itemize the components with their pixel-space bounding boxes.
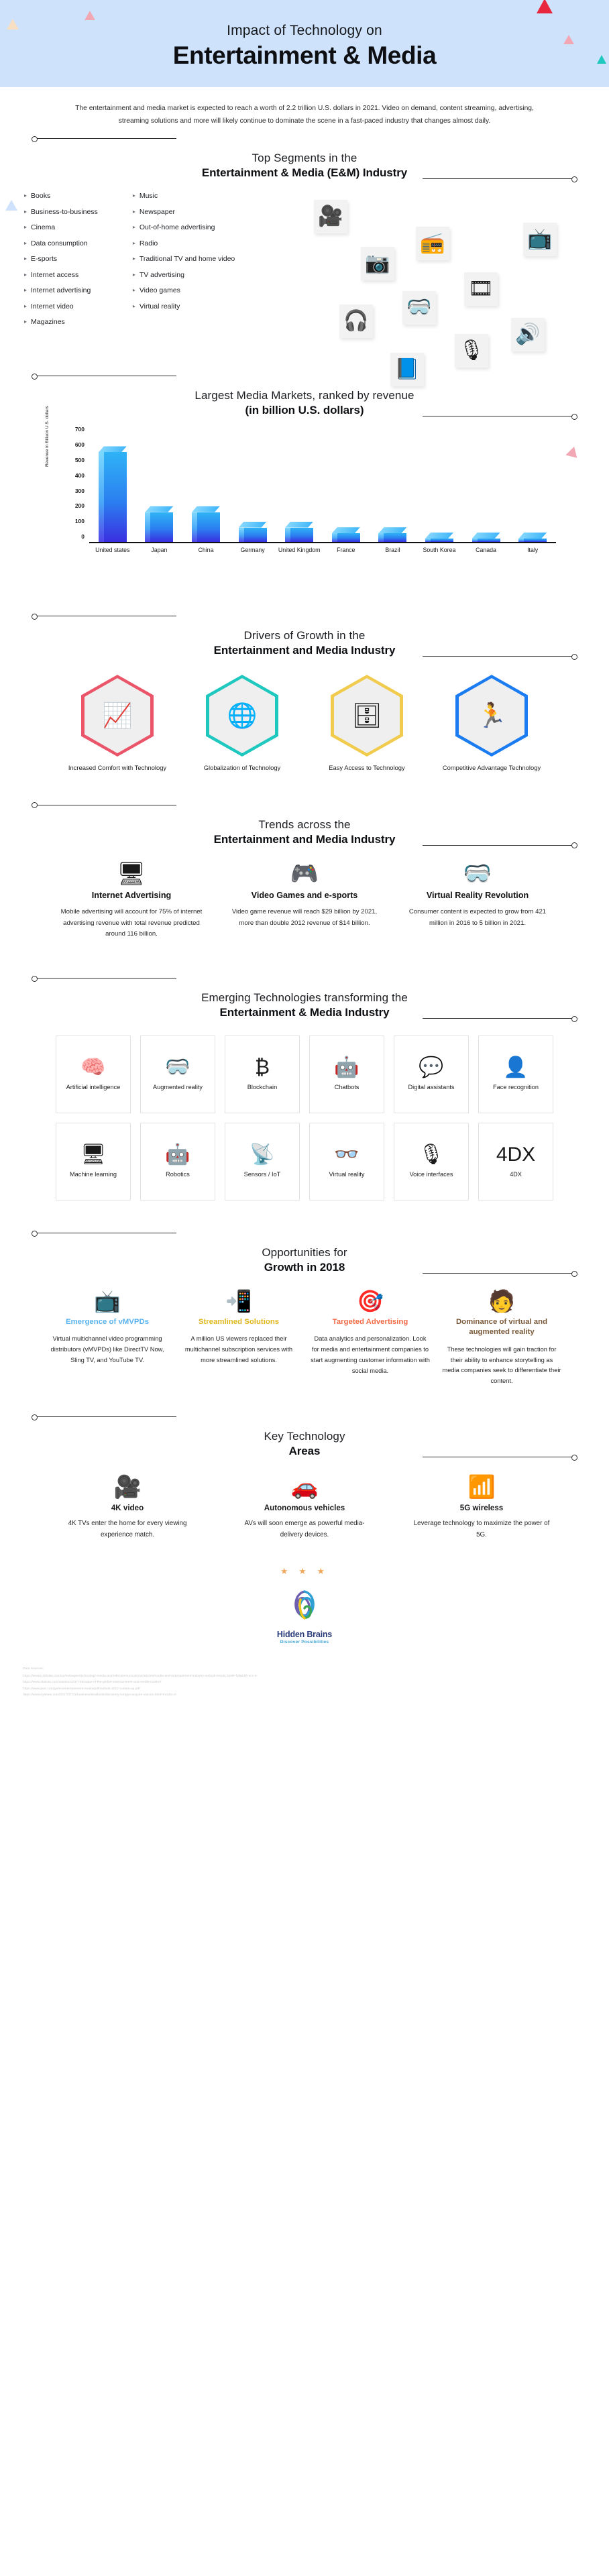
segment-item-label: Traditional TV and home video — [140, 255, 235, 263]
page-title: Entertainment & Media — [0, 42, 609, 70]
segment-item-label: Internet advertising — [31, 286, 91, 294]
chart-bar-slot: United Kingdom — [276, 436, 323, 542]
brand-logo: Hidden Brains Discover Possibilities — [0, 1577, 609, 1648]
chart-bar-side — [285, 528, 290, 542]
tech-card: 🥽Augmented reality — [140, 1035, 215, 1113]
caret-icon: ▸ — [133, 209, 135, 215]
key-area-body: Leverage technology to maximize the powe… — [410, 1518, 553, 1541]
segment-item-label: Virtual reality — [140, 302, 180, 311]
chart-y-tick: 0 — [81, 533, 85, 540]
segments-column-right: ▸Music▸Newspaper▸Out-of-home advertising… — [133, 192, 235, 326]
chart-bar-face — [478, 539, 500, 542]
globe-network-icon: 🌐 — [227, 704, 258, 728]
segment-item-label: E-sports — [31, 255, 57, 263]
caret-icon: ▸ — [24, 241, 27, 246]
driver-label: Globalization of Technology — [192, 763, 292, 773]
chart-bar-top — [239, 522, 267, 528]
segment-item: ▸Newspaper — [133, 208, 235, 216]
section-rule-right — [423, 845, 577, 846]
tech-card: 🖥Machine learning — [56, 1123, 131, 1200]
key-area-card: 🎥4K video4K TVs enter the home for every… — [56, 1475, 199, 1541]
section-rule-left — [32, 138, 176, 139]
chart-x-tick-label: Brazil — [371, 547, 414, 554]
radio-icon: 📻 — [416, 227, 449, 260]
retro-tv-icon: 📺 — [47, 1290, 168, 1312]
chart-bar — [285, 522, 313, 542]
chart-bar-side — [239, 528, 244, 542]
segment-item: ▸Out-of-home advertising — [133, 223, 235, 231]
segment-item: ▸Internet advertising — [24, 286, 98, 294]
decor-triangle — [85, 11, 95, 20]
chart-bar-top — [332, 527, 360, 533]
tech-card-label: Sensors / IoT — [244, 1170, 281, 1178]
segments-heading-line1: Top Segments in the — [0, 152, 609, 165]
opportunity-title: Emergence of vMVPDs — [47, 1317, 168, 1327]
chart-bar-slot: China — [182, 436, 229, 542]
trend-card: 🖥Internet AdvertisingMobile advertising … — [56, 862, 207, 940]
chart-bar-top — [285, 522, 313, 528]
chart-y-tick: 300 — [75, 488, 85, 494]
source-url[interactable]: https://www.nytimes.com/2017/07/31/busin… — [23, 1692, 586, 1698]
segments-columns: ▸Books▸Business-to-business▸Cinema▸Data … — [24, 192, 235, 326]
opportunities-heading-line1: Opportunities for — [0, 1246, 609, 1259]
segment-item: ▸Video games — [133, 286, 235, 294]
segments-heading-line2: Entertainment & Media (E&M) Industry — [0, 166, 609, 180]
segment-item: ▸Magazines — [24, 318, 98, 326]
chart-bar-side — [145, 512, 150, 542]
trend-title: Video Games and e-sports — [229, 891, 380, 900]
chart-bar — [425, 533, 453, 542]
section-rule-right — [423, 416, 577, 416]
chart-bar — [472, 533, 500, 542]
tech-card-label: Artificial intelligence — [66, 1083, 121, 1091]
secure-server-icon: 🗄 — [351, 704, 382, 728]
hexagon-frame: 📈 — [81, 675, 154, 757]
trend-title: Internet Advertising — [56, 891, 207, 900]
caret-icon: ▸ — [133, 272, 135, 278]
caret-icon: ▸ — [24, 193, 27, 199]
stars-divider: ★ ★ ★ — [0, 1557, 609, 1577]
source-url[interactable]: https://www.statista.com/statistics/2377… — [23, 1679, 586, 1685]
autonomous-car-icon: 🚗 — [233, 1475, 376, 1498]
segment-item-label: Cinema — [31, 223, 55, 231]
opportunity-body: A million US viewers replaced their mult… — [178, 1334, 299, 1365]
segment-item: ▸Traditional TV and home video — [133, 255, 235, 263]
chart-bar-slot: France — [323, 436, 370, 542]
sensor-car-icon: 📡 — [250, 1145, 274, 1165]
drivers-heading-line1: Drivers of Growth in the — [0, 629, 609, 642]
chart-bar-side — [472, 539, 478, 542]
monitor-icon: 🖥 — [80, 1145, 106, 1165]
source-url[interactable]: https://www2.deloitte.com/us/en/pages/te… — [23, 1673, 586, 1679]
chart-subtitle: (in billion U.S. dollars) — [0, 404, 609, 417]
section-rule-right — [423, 1018, 577, 1019]
logo-tagline: Discover Possibilities — [0, 1640, 609, 1644]
tech-card-label: Face recognition — [493, 1083, 539, 1091]
section-rule-left — [32, 1416, 176, 1417]
digital-assistant-icon: 💬 — [419, 1058, 443, 1078]
chart-bar-slot: Japan — [136, 436, 183, 542]
drivers-heading: Drivers of Growth in the Entertainment a… — [0, 577, 609, 663]
opportunities-section: 📺Emergence of vMVPDsVirtual multichannel… — [0, 1280, 609, 1402]
segment-item: ▸Internet video — [24, 302, 98, 311]
tech-card: 🧠Artificial intelligence — [56, 1035, 131, 1113]
segment-item-label: Internet video — [31, 302, 74, 311]
growth-chart-icon: 📈 — [103, 704, 133, 728]
segment-item: ▸TV advertising — [133, 271, 235, 279]
segment-item-label: Radio — [140, 239, 158, 247]
section-rule-right — [423, 1273, 577, 1274]
fourdx-icon: 4DX — [496, 1145, 535, 1165]
emerging-tech-row: 🧠Artificial intelligence🥽Augmented reali… — [56, 1035, 553, 1113]
tech-card: 📡Sensors / IoT — [225, 1123, 300, 1200]
chart-x-tick-label: South Korea — [418, 547, 461, 554]
decor-triangle — [565, 447, 581, 462]
chart-x-tick-label: Canada — [465, 547, 508, 554]
movie-camera-icon: 🎥 — [314, 200, 347, 233]
key-area-title: 5G wireless — [410, 1504, 553, 1512]
segment-item: ▸E-sports — [24, 255, 98, 263]
tech-card-label: Machine learning — [70, 1170, 117, 1178]
segment-item: ▸Radio — [133, 239, 235, 247]
caret-icon: ▸ — [24, 288, 27, 293]
key-areas-section: 🎥4K video4K TVs enter the home for every… — [0, 1463, 609, 1557]
chart-bar-face — [524, 539, 547, 542]
segment-item: ▸Business-to-business — [24, 208, 98, 216]
segment-item-label: Video games — [140, 286, 180, 294]
sources-list: https://www2.deloitte.com/us/en/pages/te… — [23, 1673, 586, 1697]
robot-icon: 🤖 — [334, 1058, 359, 1078]
segments-column-left: ▸Books▸Business-to-business▸Cinema▸Data … — [24, 192, 98, 326]
driver-label: Competitive Advantage Technology — [442, 763, 541, 773]
caret-icon: ▸ — [133, 193, 135, 199]
virtual-reality-icon: 🥽 — [402, 862, 553, 885]
segment-item-label: Books — [31, 192, 50, 200]
opportunity-card: 🎯Targeted AdvertisingData analytics and … — [310, 1290, 431, 1387]
chart-bar-face — [431, 539, 453, 542]
segment-item-label: Magazines — [31, 318, 65, 326]
caret-icon: ▸ — [24, 304, 27, 309]
infographic-page: Impact of Technology on Entertainment & … — [0, 0, 609, 1713]
chart-bar-top — [192, 506, 220, 512]
emerging-tech-row: 🖥Machine learning🤖Robotics📡Sensors / IoT… — [56, 1123, 553, 1200]
top-segments-section: ▸Books▸Business-to-business▸Cinema▸Data … — [0, 185, 609, 325]
tech-card: 💬Digital assistants — [394, 1035, 469, 1113]
key-areas-heading-line1: Key Technology — [0, 1430, 609, 1443]
emerging-tech-section: 🧠Artificial intelligence🥽Augmented reali… — [0, 1025, 609, 1214]
emerging-heading-line2: Entertainment & Media Industry — [0, 1006, 609, 1019]
chart-x-tick-label: China — [184, 547, 227, 554]
decor-triangle — [537, 0, 553, 13]
chart-bar-face — [337, 533, 360, 542]
opportunity-card: 📺Emergence of vMVPDsVirtual multichannel… — [47, 1290, 168, 1387]
chart-x-tick-label: Japan — [137, 547, 180, 554]
driver-label: Easy Access to Technology — [317, 763, 417, 773]
chart-title: Largest Media Markets, ranked by revenue — [0, 389, 609, 402]
chart-bar-slot: Germany — [229, 436, 276, 542]
tech-card-label: 4DX — [510, 1170, 522, 1178]
trend-body: Mobile advertising will account for 75% … — [56, 907, 207, 940]
caret-icon: ▸ — [133, 256, 135, 262]
section-rule-left — [32, 616, 176, 616]
chart-bar — [145, 506, 173, 542]
hexagon-frame: 🏃 — [455, 675, 528, 757]
chart-bar-slot: Brazil — [370, 436, 417, 542]
chart-x-tick-label: France — [325, 547, 368, 554]
section-rule-right — [423, 178, 577, 179]
segments-icon-collage: 🎥 📷 📻 📺 🎞 🥽 🎧 🎙 🔊 📘 — [302, 185, 590, 319]
segment-item-label: Music — [140, 192, 158, 200]
chart-x-axis — [89, 542, 556, 543]
opportunity-body: Data analytics and personalization. Look… — [310, 1334, 431, 1376]
driver-card: 🏃Competitive Advantage Technology — [442, 675, 541, 773]
trends-section: 🖥Internet AdvertisingMobile advertising … — [0, 852, 609, 954]
hidden-brains-mark-icon — [286, 1586, 323, 1625]
chart-bar-face — [384, 533, 406, 542]
driver-card: 📈Increased Comfort with Technology — [68, 675, 167, 773]
opportunity-title: Dominance of virtual and augmented reali… — [441, 1317, 562, 1338]
segment-item: ▸Cinema — [24, 223, 98, 231]
caret-icon: ▸ — [24, 272, 27, 278]
caret-icon: ▸ — [133, 225, 135, 230]
tech-card: 👓Virtual reality — [309, 1123, 384, 1200]
section-rule-left — [32, 805, 176, 805]
video-games-esports-icon: 🎮 — [229, 862, 380, 885]
chart-x-tick-label: United Kingdom — [278, 547, 321, 554]
key-area-title: Autonomous vehicles — [233, 1504, 376, 1512]
intro-paragraph: The entertainment and media market is ex… — [0, 87, 609, 134]
chart-bar-top — [99, 446, 127, 452]
key-areas-heading-line2: Areas — [0, 1445, 609, 1458]
opportunity-title: Streamlined Solutions — [178, 1317, 299, 1327]
segment-item-label: TV advertising — [140, 271, 184, 279]
caret-icon: ▸ — [24, 225, 27, 230]
tech-card-label: Augmented reality — [153, 1083, 203, 1091]
chart-bar-face — [197, 512, 220, 542]
chart-bar-slot: Italy — [509, 436, 556, 542]
tech-card: 🤖Robotics — [140, 1123, 215, 1200]
chart-bar-side — [378, 533, 384, 542]
chart-bar — [239, 522, 267, 542]
chart-y-tick: 200 — [75, 502, 85, 509]
chart-bar — [332, 527, 360, 542]
chart-bar — [518, 533, 547, 542]
chart-y-tick: 700 — [75, 426, 85, 433]
driver-card: 🗄Easy Access to Technology — [317, 675, 417, 773]
decor-triangle — [5, 200, 17, 211]
blockchain-chip-icon: ₿ — [255, 1058, 270, 1078]
opportunity-body: These technologies will gain traction fo… — [441, 1345, 562, 1387]
source-url[interactable]: https://www.pwc.com/gx/en/entertainment-… — [23, 1686, 586, 1692]
tech-card-label: Chatbots — [335, 1083, 359, 1091]
4k-camera-icon: 🎥 — [56, 1475, 199, 1498]
chart-bar-top — [518, 533, 547, 539]
hexagon-frame: 🌐 — [206, 675, 278, 757]
chart-bar-side — [425, 539, 431, 542]
tech-card: ₿Blockchain — [225, 1035, 300, 1113]
face-recognition-icon: 👤 — [503, 1058, 528, 1078]
hexagon-frame: 🗄 — [331, 675, 403, 757]
chart-x-tick-label: United states — [91, 547, 134, 554]
chart-y-tick: 100 — [75, 518, 85, 524]
caret-icon: ▸ — [133, 241, 135, 246]
caret-icon: ▸ — [24, 319, 27, 325]
opportunity-title: Targeted Advertising — [310, 1317, 431, 1327]
segment-item-label: Internet access — [31, 271, 78, 279]
chart-bar-top — [378, 527, 406, 533]
segment-item-label: Business-to-business — [31, 208, 98, 216]
segment-item: ▸Books — [24, 192, 98, 200]
section-rule-left — [32, 376, 176, 376]
internet-advertising-icon: 🖥 — [56, 862, 207, 885]
chart-bar-top — [145, 506, 173, 512]
media-markets-chart: Revenue in Billuon U.S. dollars United s… — [0, 423, 609, 577]
section-rule-right — [423, 1457, 577, 1457]
trend-card: 🎮Video Games and e-sportsVideo game reve… — [229, 862, 380, 940]
section-rule-left — [32, 1233, 176, 1233]
vr-headset-icon: 🥽 — [402, 291, 436, 325]
chart-bar-slot: United states — [89, 436, 136, 542]
drivers-section: 📈Increased Comfort with Technology🌐Globa… — [0, 663, 609, 778]
trends-heading-line2: Entertainment and Media Industry — [0, 833, 609, 846]
vr-user-icon: 🧑 — [441, 1290, 562, 1312]
ar-headset-icon: 🥽 — [165, 1058, 190, 1078]
segment-item: ▸Music — [133, 192, 235, 200]
runner-growth-icon: 🏃 — [477, 704, 507, 728]
chart-bar-face — [104, 452, 127, 542]
segment-item: ▸Virtual reality — [133, 302, 235, 311]
opportunities-heading: Opportunities for Growth in 2018 — [0, 1214, 609, 1280]
sources-label: Data Sources: — [23, 1666, 586, 1672]
key-area-body: 4K TVs enter the home for every viewing … — [56, 1518, 199, 1541]
chart-bar — [192, 506, 220, 542]
segment-item-label: Newspaper — [140, 208, 175, 216]
section-rule-right — [423, 656, 577, 657]
tech-card-label: Robotics — [166, 1170, 190, 1178]
trends-heading-line1: Trends across the — [0, 818, 609, 832]
opportunities-heading-line2: Growth in 2018 — [0, 1261, 609, 1274]
chart-heading: Largest Media Markets, ranked by revenue… — [0, 325, 609, 423]
chart-bar — [378, 527, 406, 542]
caret-icon: ▸ — [133, 288, 135, 293]
tech-card: 🎙Voice interfaces — [394, 1123, 469, 1200]
key-area-title: 4K video — [56, 1504, 199, 1512]
driver-card: 🌐Globalization of Technology — [192, 675, 292, 773]
vr-glasses-icon: 👓 — [334, 1145, 359, 1165]
chart-bar-slot: Canada — [463, 436, 510, 542]
driver-label: Increased Comfort with Technology — [68, 763, 167, 773]
segment-item: ▸Internet access — [24, 271, 98, 279]
drivers-heading-line2: Entertainment and Media Industry — [0, 644, 609, 657]
emerging-heading-line1: Emerging Technologies transforming the — [0, 991, 609, 1005]
opportunity-card: 🧑Dominance of virtual and augmented real… — [441, 1290, 562, 1387]
segment-item-label: Out-of-home advertising — [140, 223, 215, 231]
chart-bar-slot: South Korea — [416, 436, 463, 542]
brain-gear-icon: 🧠 — [80, 1058, 105, 1078]
segments-heading: Top Segments in the Entertainment & Medi… — [0, 134, 609, 185]
chart-bar — [99, 446, 127, 542]
trend-body: Video game revenue will reach $29 billio… — [229, 907, 380, 930]
voice-mic-icon: 🎙 — [419, 1145, 444, 1165]
tech-card: 4DX4DX — [478, 1123, 553, 1200]
photo-camera-icon: 📷 — [361, 247, 394, 280]
opportunity-body: Virtual multichannel video programming d… — [47, 1334, 168, 1365]
chart-plot-area: United statesJapanChinaGermanyUnited Kin… — [89, 436, 556, 543]
segment-item-label: Data consumption — [31, 239, 88, 247]
tech-card-label: Blockchain — [247, 1083, 277, 1091]
caret-icon: ▸ — [133, 304, 135, 309]
key-area-card: 📶5G wirelessLeverage technology to maxim… — [410, 1475, 553, 1541]
opportunity-card: 📲Streamlined SolutionsA million US viewe… — [178, 1290, 299, 1387]
chart-bars: United statesJapanChinaGermanyUnited Kin… — [89, 436, 556, 542]
chart-y-tick: 500 — [75, 457, 85, 463]
chart-bar-face — [244, 528, 267, 542]
chart-bar-side — [332, 533, 337, 542]
chart-bar-side — [99, 452, 104, 542]
data-sources: Data Sources: https://www2.deloitte.com/… — [0, 1648, 609, 1712]
chart-bar-face — [290, 528, 313, 542]
chart-bar-face — [150, 512, 173, 542]
chart-bar-top — [472, 533, 500, 539]
streamlined-solutions-icon: 📲 — [178, 1290, 299, 1312]
chart-x-tick-label: Germany — [231, 547, 274, 554]
chart-bar-top — [425, 533, 453, 539]
chart-x-tick-label: Italy — [511, 547, 554, 554]
hero-eyebrow: Impact of Technology on — [0, 23, 609, 39]
chart-y-tick: 600 — [75, 441, 85, 448]
trend-body: Consumer content is expected to grow fro… — [402, 907, 553, 930]
logo-name: Hidden Brains — [0, 1630, 609, 1639]
trends-heading: Trends across the Entertainment and Medi… — [0, 778, 609, 852]
hero-section: Impact of Technology on Entertainment & … — [0, 0, 609, 87]
tech-card: 👤Face recognition — [478, 1035, 553, 1113]
emerging-heading: Emerging Technologies transforming the E… — [0, 954, 609, 1025]
tech-card-label: Virtual reality — [329, 1170, 365, 1178]
key-area-card: 🚗Autonomous vehiclesAVs will soon emerge… — [233, 1475, 376, 1541]
segment-item: ▸Data consumption — [24, 239, 98, 247]
chart-y-axis-label: Revenue in Billuon U.S. dollars — [45, 406, 50, 467]
caret-icon: ▸ — [24, 209, 27, 215]
key-areas-heading: Key Technology Areas — [0, 1402, 609, 1463]
key-area-body: AVs will soon emerge as powerful media-d… — [233, 1518, 376, 1541]
robotics-icon: 🤖 — [165, 1145, 190, 1165]
film-reel-icon: 🎞 — [464, 272, 498, 306]
chart-y-tick: 400 — [75, 472, 85, 479]
trend-title: Virtual Reality Revolution — [402, 891, 553, 900]
television-icon: 📺 — [523, 223, 557, 256]
trend-card: 🥽Virtual Reality RevolutionConsumer cont… — [402, 862, 553, 940]
section-rule-left — [32, 978, 176, 978]
5g-wireless-icon: 📶 — [410, 1475, 553, 1498]
tech-card-label: Voice interfaces — [410, 1170, 453, 1178]
target-arrow-icon: 🎯 — [310, 1290, 431, 1312]
caret-icon: ▸ — [24, 256, 27, 262]
tech-card-label: Digital assistants — [408, 1083, 455, 1091]
chart-bar-side — [192, 512, 197, 542]
tech-card: 🤖Chatbots — [309, 1035, 384, 1113]
chart-bar-side — [518, 539, 524, 542]
